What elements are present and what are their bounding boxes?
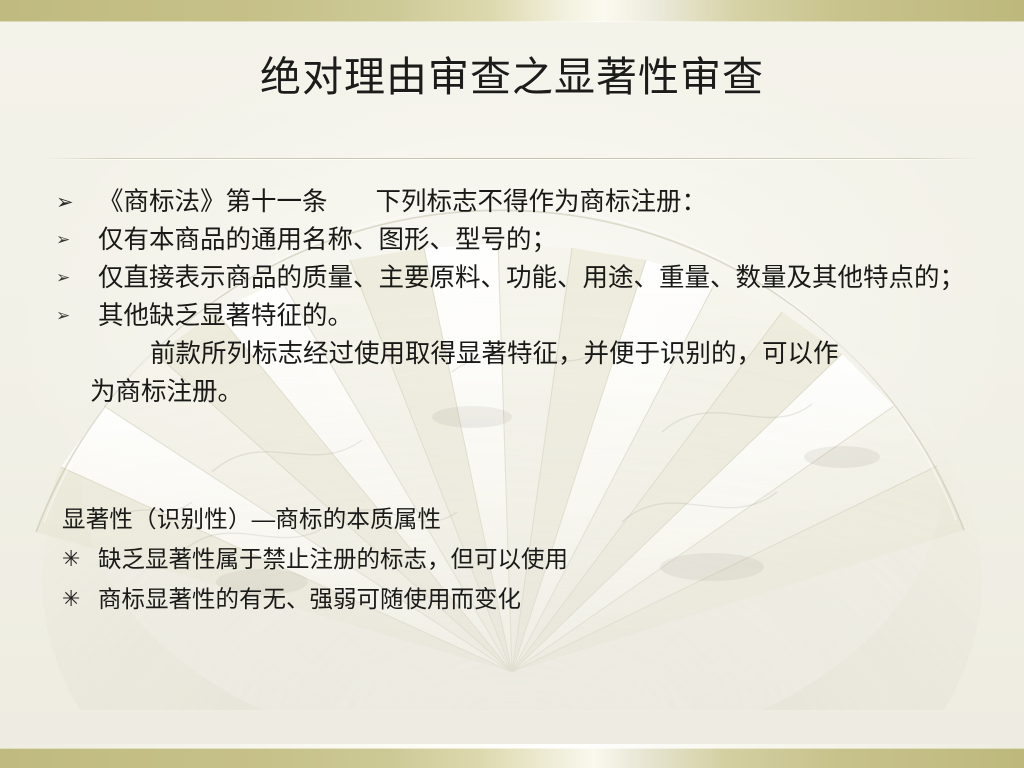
list-item: ➢ 其他缺乏显著特征的。 [0, 297, 968, 335]
statute-lead-in: 下列标志不得作为商标注册： [376, 187, 708, 216]
slide-body: ➢ 《商标法》第十一条下列标志不得作为商标注册： ➢ 仅有本商品的通用名称、图形… [0, 183, 1024, 411]
arrow-bullet-icon: ➢ [56, 297, 82, 335]
list-item: ✳ 缺乏显著性属于禁止注册的标志，但可以使用 [0, 539, 1024, 579]
page-title: 绝对理由审查之显著性审查 [0, 52, 1024, 103]
statute-list: ➢ 《商标法》第十一条下列标志不得作为商标注册： ➢ 仅有本商品的通用名称、图形… [0, 183, 1024, 411]
top-accent-band [0, 0, 1024, 22]
list-item-label: 《商标法》第十一条下列标志不得作为商标注册： [98, 183, 968, 221]
section-heading: 显著性（识别性）—商标的本质属性 [0, 499, 1024, 539]
list-item-label: 缺乏显著性属于禁止注册的标志，但可以使用 [98, 546, 568, 572]
list-item: ✳ 商标显著性的有无、强弱可随使用而变化 [0, 579, 1024, 619]
list-item: ➢ 仅有本商品的通用名称、图形、型号的； [0, 221, 968, 259]
title-zone: 绝对理由审查之显著性审查 [0, 52, 1024, 103]
distinctiveness-section: 显著性（识别性）—商标的本质属性 ✳ 缺乏显著性属于禁止注册的标志，但可以使用 … [0, 499, 1024, 619]
slide-canvas: 绝对理由审查之显著性审查 ➢ 《商标法》第十一条下列标志不得作为商标注册： ➢ … [0, 0, 1024, 768]
list-item-label: 仅有本商品的通用名称、图形、型号的； [98, 221, 968, 259]
list-item-label: 仅直接表示商品的质量、主要原料、功能、用途、重量、数量及其他特点的； [98, 259, 968, 297]
list-item-label: 其他缺乏显著特征的。 [98, 297, 968, 335]
asterisk-bullet-icon: ✳ [62, 579, 84, 619]
arrow-bullet-icon: ➢ [56, 183, 82, 221]
statute-reference: 《商标法》第十一条 [98, 187, 328, 216]
bottom-accent-band [0, 748, 1024, 768]
list-item: ➢ 《商标法》第十一条下列标志不得作为商标注册： [0, 183, 968, 221]
title-divider [44, 158, 980, 161]
asterisk-bullet-icon: ✳ [62, 539, 84, 579]
arrow-bullet-icon: ➢ [56, 259, 82, 297]
list-item-label: 商标显著性的有无、强弱可随使用而变化 [98, 586, 521, 612]
statute-paragraph-line-2: 为商标注册。 [0, 373, 968, 411]
statute-paragraph-line-1: 前款所列标志经过使用取得显著特征，并便于识别的，可以作 [0, 335, 968, 373]
list-item: ➢ 仅直接表示商品的质量、主要原料、功能、用途、重量、数量及其他特点的； [0, 259, 968, 297]
divider-line-light [44, 159, 980, 160]
arrow-bullet-icon: ➢ [56, 221, 82, 259]
